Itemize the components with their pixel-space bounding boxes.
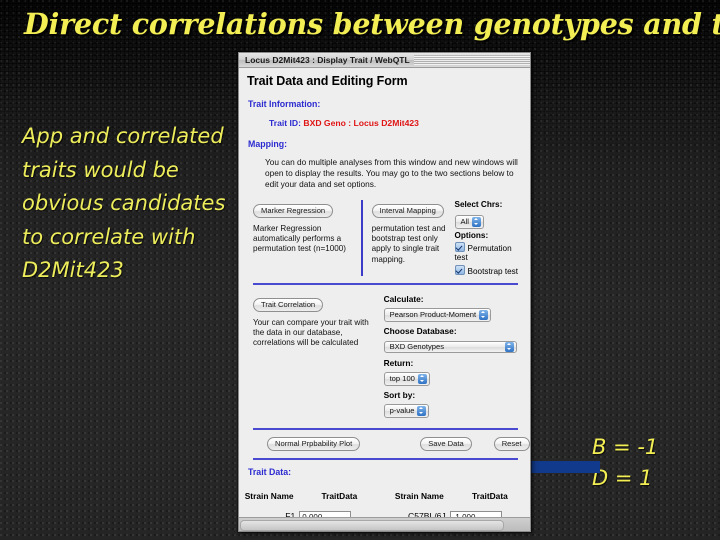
section-heading-mapping: Mapping: [239,128,530,149]
choose-database-label: Choose Database: [384,326,522,336]
window-title: Locus D2Mit423 : Display Trait / WebQTL [245,53,410,67]
choose-database-dropdown[interactable]: BXD Genotypes [384,341,517,353]
webqtl-browser-window: Locus D2Mit423 : Display Trait / WebQTL … [238,52,531,532]
strain-name-cell: F1 [239,505,299,518]
marker-regression-column: Marker Regression Marker Regression auto… [253,200,361,276]
scrollbar-thumb[interactable] [240,520,504,531]
genotype-legend: B = -1 D = 1 [592,432,658,494]
mapping-intro-text: You can do multiple analyses from this w… [239,149,530,191]
slide-canvas: Direct correlations between genotypes an… [0,0,720,540]
checkbox-checked-icon [455,265,465,275]
column-gap [380,491,389,505]
trait-correlation-column: Trait Correlation Your can compare your … [253,294,380,418]
section-heading-trait-information: Trait Information: [239,88,530,109]
correlation-section: Trait Correlation Your can compare your … [239,285,530,418]
interval-mapping-note: permutation test and bootstrap test only… [372,218,449,265]
permutation-test-checkbox[interactable]: Permutation test [455,242,522,262]
page-content: Trait Data and Editing Form Trait Inform… [239,68,530,518]
chevron-updown-icon [505,342,514,352]
trait-data-table: Strain Name TraitData Strain Name TraitD… [239,491,530,518]
marker-regression-note: Marker Regression automatically performs… [253,218,361,255]
chevron-updown-icon [417,406,426,416]
section-heading-trait-data: Trait Data: [239,460,530,477]
choose-database-value: BXD Genotypes [390,341,444,353]
chevron-updown-icon [418,374,427,384]
select-chrs-value: All [461,216,469,228]
form-actions-row: Normal Prpbability Plot Save Data Reset [239,430,530,451]
table-header-row: Strain Name TraitData Strain Name TraitD… [239,491,530,505]
normal-probability-plot-button[interactable]: Normal Prpbability Plot [267,437,360,451]
interval-mapping-button[interactable]: Interval Mapping [372,204,444,218]
select-chrs-dropdown[interactable]: All [455,215,484,229]
sort-by-label: Sort by: [384,390,522,400]
column-header-traitdata-a: TraitData [299,491,379,505]
table-row: F1 0.000 C57BL/6J -1.000 [239,505,530,518]
trait-id-value: BXD Geno : Locus D2Mit423 [303,118,419,128]
legend-line-b: B = -1 [592,432,658,463]
correlation-fields-column: Calculate: Pearson Product-Moment Choose… [380,294,522,418]
reset-button[interactable]: Reset [494,437,530,451]
window-titlebar[interactable]: Locus D2Mit423 : Display Trait / WebQTL [239,53,530,68]
return-label: Return: [384,358,522,368]
sort-by-value: p-value [390,405,415,417]
trait-id-row: Trait ID: BXD Geno : Locus D2Mit423 [239,109,530,128]
checkbox-checked-icon [455,242,465,252]
bootstrap-test-label: Bootstrap test [468,267,519,276]
sort-by-dropdown[interactable]: p-value [384,404,430,418]
marker-regression-button[interactable]: Marker Regression [253,204,333,218]
save-data-button[interactable]: Save Data [420,437,471,451]
mapping-columns: Marker Regression Marker Regression auto… [239,191,530,276]
calculate-dropdown[interactable]: Pearson Product-Moment [384,308,492,322]
column-header-traitdata-b: TraitData [450,491,530,505]
slide-body-text: App and correlated traits would be obvio… [22,120,237,288]
trait-id-label: Trait ID: [269,118,301,128]
interval-mapping-column: Interval Mapping permutation test and bo… [363,200,449,276]
column-header-strain-name-b: Strain Name [389,491,450,505]
column-gap [380,505,389,518]
options-label: Options: [455,231,522,240]
return-dropdown[interactable]: top 100 [384,372,430,386]
calculate-value: Pearson Product-Moment [390,309,477,321]
page-title: Direct correlations between genotypes an… [24,4,704,44]
strain-name-cell: C57BL/6J [389,505,450,518]
chevron-updown-icon [472,217,481,227]
trait-correlation-note: Your can compare your trait with the dat… [253,312,380,349]
calculate-label: Calculate: [384,294,522,304]
return-value: top 100 [390,373,415,385]
bootstrap-test-checkbox[interactable]: Bootstrap test [455,265,522,276]
horizontal-scrollbar[interactable] [239,517,530,531]
form-title: Trait Data and Editing Form [239,68,530,88]
chevron-updown-icon [479,310,488,320]
trait-correlation-button[interactable]: Trait Correlation [253,298,323,312]
titlebar-stripes [414,55,530,65]
select-chrs-label: Select Chrs: [455,200,522,209]
mapping-options-column: Select Chrs: All Options: Permutation te… [449,200,522,276]
legend-line-d: D = 1 [592,463,658,494]
column-header-strain-name-a: Strain Name [239,491,299,505]
